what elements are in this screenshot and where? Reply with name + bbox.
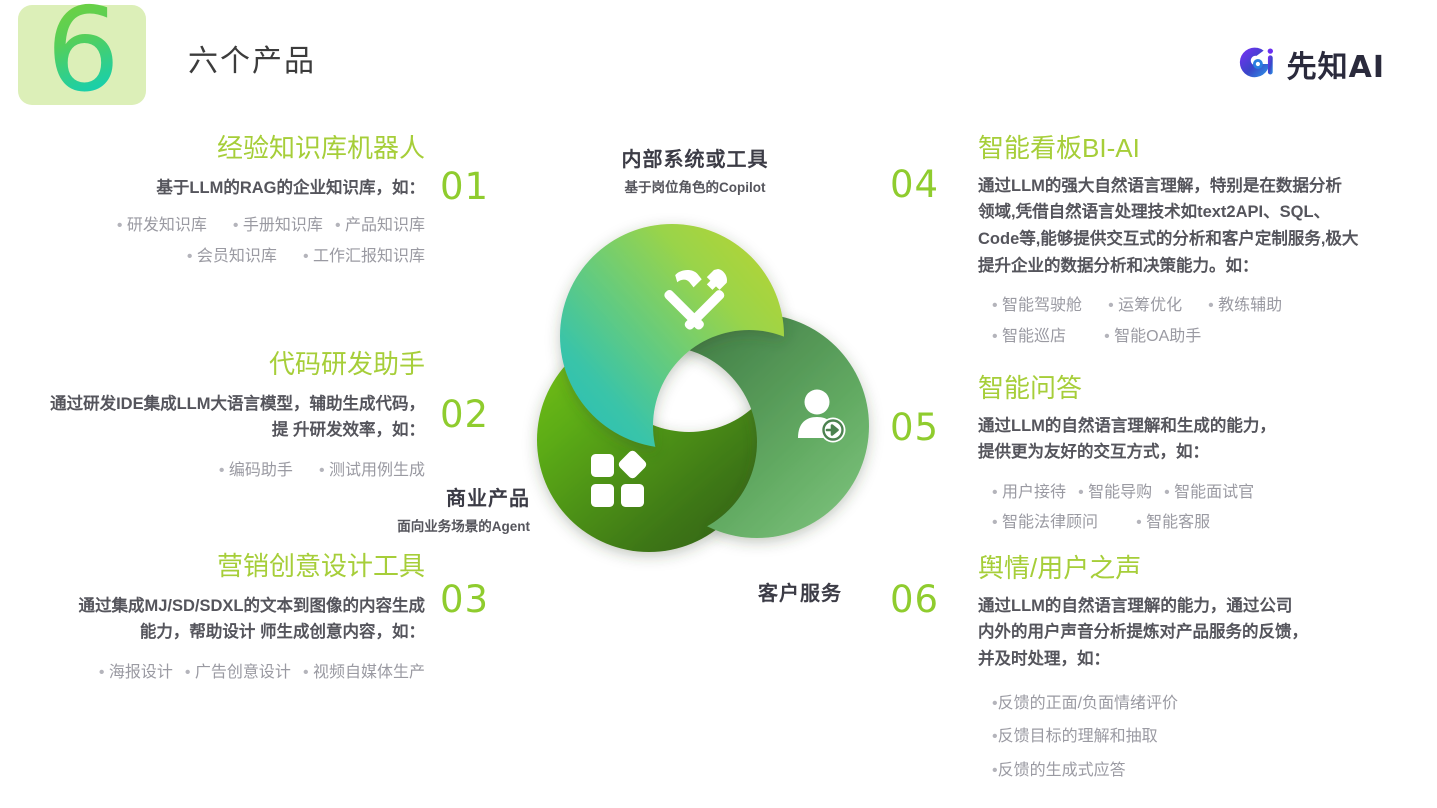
diagram-label-bl-title: 商业产品 bbox=[330, 482, 530, 511]
bullet-row: • 海报设计• 广告创意设计• 视频自媒体生产 bbox=[0, 658, 425, 688]
section-06-title: 舆情/用户之声 bbox=[978, 552, 1408, 585]
diagram-label-bl-subtitle: 面向业务场景的Agent bbox=[330, 515, 530, 535]
section-02-title: 代码研发助手 bbox=[0, 348, 425, 381]
section-04: 智能看板BI-AI 通过LLM的强大自然语言理解，特别是在数据分析 领域,凭借自… bbox=[978, 132, 1408, 352]
section-02: 代码研发助手 通过研发IDE集成LLM大语言模型，辅助生成代码， 提 升研发效率… bbox=[0, 348, 425, 486]
diagram-label-bottom-right: 客户服务 bbox=[700, 577, 900, 606]
diagram-label-bottom-left: 商业产品 面向业务场景的Agent bbox=[330, 482, 530, 535]
bullet-row: • 会员知识库• 工作汇报知识库 bbox=[0, 242, 425, 272]
section-03-body: 通过集成MJ/SD/SDXL的文本到图像的内容生成 能力，帮助设计 师生成创意内… bbox=[0, 593, 425, 646]
section-03-bullets: • 海报设计• 广告创意设计• 视频自媒体生产 bbox=[0, 658, 425, 688]
section-03-title: 营销创意设计工具 bbox=[0, 550, 425, 583]
tools-lobe bbox=[513, 190, 903, 580]
section-01-title: 经验知识库机器人 bbox=[0, 132, 425, 165]
diagram-label-top: 内部系统或工具 基于岗位角色的Copilot bbox=[560, 143, 830, 196]
bullet-row: • 智能巡店• 智能OA助手 bbox=[992, 322, 1408, 352]
bullet-row: • 研发知识库• 手册知识库• 产品知识库 bbox=[0, 211, 425, 241]
section-04-title: 智能看板BI-AI bbox=[978, 132, 1408, 165]
section-04-bullets: • 智能驾驶舱• 运筹优化• 教练辅助 • 智能巡店• 智能OA助手 bbox=[978, 291, 1408, 352]
eye-logo-icon bbox=[1235, 43, 1277, 85]
diagram-label-top-title: 内部系统或工具 bbox=[560, 143, 830, 172]
section-05-title: 智能问答 bbox=[978, 372, 1408, 405]
brand-logo-text: 先知AI bbox=[1287, 42, 1385, 86]
section-01: 经验知识库机器人 基于LLM的RAG的企业知识库，如： • 研发知识库• 手册知… bbox=[0, 132, 425, 272]
slide-root: 6 六个产品 先知AI 经验知识库机器人 基于LLM的RAG的企业知识库，如： … bbox=[0, 0, 1437, 808]
section-02-body: 通过研发IDE集成LLM大语言模型，辅助生成代码， 提 升研发效率，如： bbox=[0, 391, 425, 444]
bullet-row: •反馈的正面/负面情绪评价 bbox=[992, 687, 1408, 721]
brand-logo: 先知AI bbox=[1235, 42, 1385, 86]
diagram-label-br-title: 客户服务 bbox=[700, 577, 900, 606]
section-01-bullets: • 研发知识库• 手册知识库• 产品知识库 • 会员知识库• 工作汇报知识库 bbox=[0, 211, 425, 272]
section-03: 营销创意设计工具 通过集成MJ/SD/SDXL的文本到图像的内容生成 能力，帮助… bbox=[0, 550, 425, 688]
section-05-bullets: • 用户接待• 智能导购• 智能面试官 • 智能法律顾问• 智能客服 bbox=[978, 478, 1408, 539]
triskelion-svg bbox=[513, 190, 903, 580]
page-title: 六个产品 bbox=[188, 36, 316, 80]
section-01-number: 01 bbox=[440, 165, 489, 208]
bullet-row: • 用户接待• 智能导购• 智能面试官 bbox=[992, 478, 1408, 508]
section-06: 舆情/用户之声 通过LLM的自然语言理解的能力，通过公司 内外的用户声音分析提炼… bbox=[978, 552, 1408, 787]
section-03-number: 03 bbox=[440, 578, 489, 621]
bullet-row: • 智能法律顾问• 智能客服 bbox=[992, 508, 1408, 538]
section-05-body: 通过LLM的自然语言理解和生成的能力， 提供更为友好的交互方式，如： bbox=[978, 413, 1408, 466]
bullet-row: •反馈的生成式应答 bbox=[992, 754, 1408, 788]
section-05: 智能问答 通过LLM的自然语言理解和生成的能力， 提供更为友好的交互方式，如： … bbox=[978, 372, 1408, 539]
section-06-body: 通过LLM的自然语言理解的能力，通过公司 内外的用户声音分析提炼对产品服务的反馈… bbox=[978, 593, 1408, 673]
bullet-row: • 智能驾驶舱• 运筹优化• 教练辅助 bbox=[992, 291, 1408, 321]
section-02-number: 02 bbox=[440, 393, 489, 436]
section-01-body: 基于LLM的RAG的企业知识库，如： bbox=[0, 175, 425, 202]
bullet-row: •反馈目标的理解和抽取 bbox=[992, 720, 1408, 754]
header-badge-number: 6 bbox=[18, 0, 146, 116]
triskelion-diagram bbox=[513, 190, 903, 580]
section-04-body: 通过LLM的强大自然语言理解，特别是在数据分析 领域,凭借自然语言处理技术如te… bbox=[978, 173, 1408, 280]
section-06-bullets: •反馈的正面/负面情绪评价 •反馈目标的理解和抽取 •反馈的生成式应答 bbox=[978, 687, 1408, 788]
